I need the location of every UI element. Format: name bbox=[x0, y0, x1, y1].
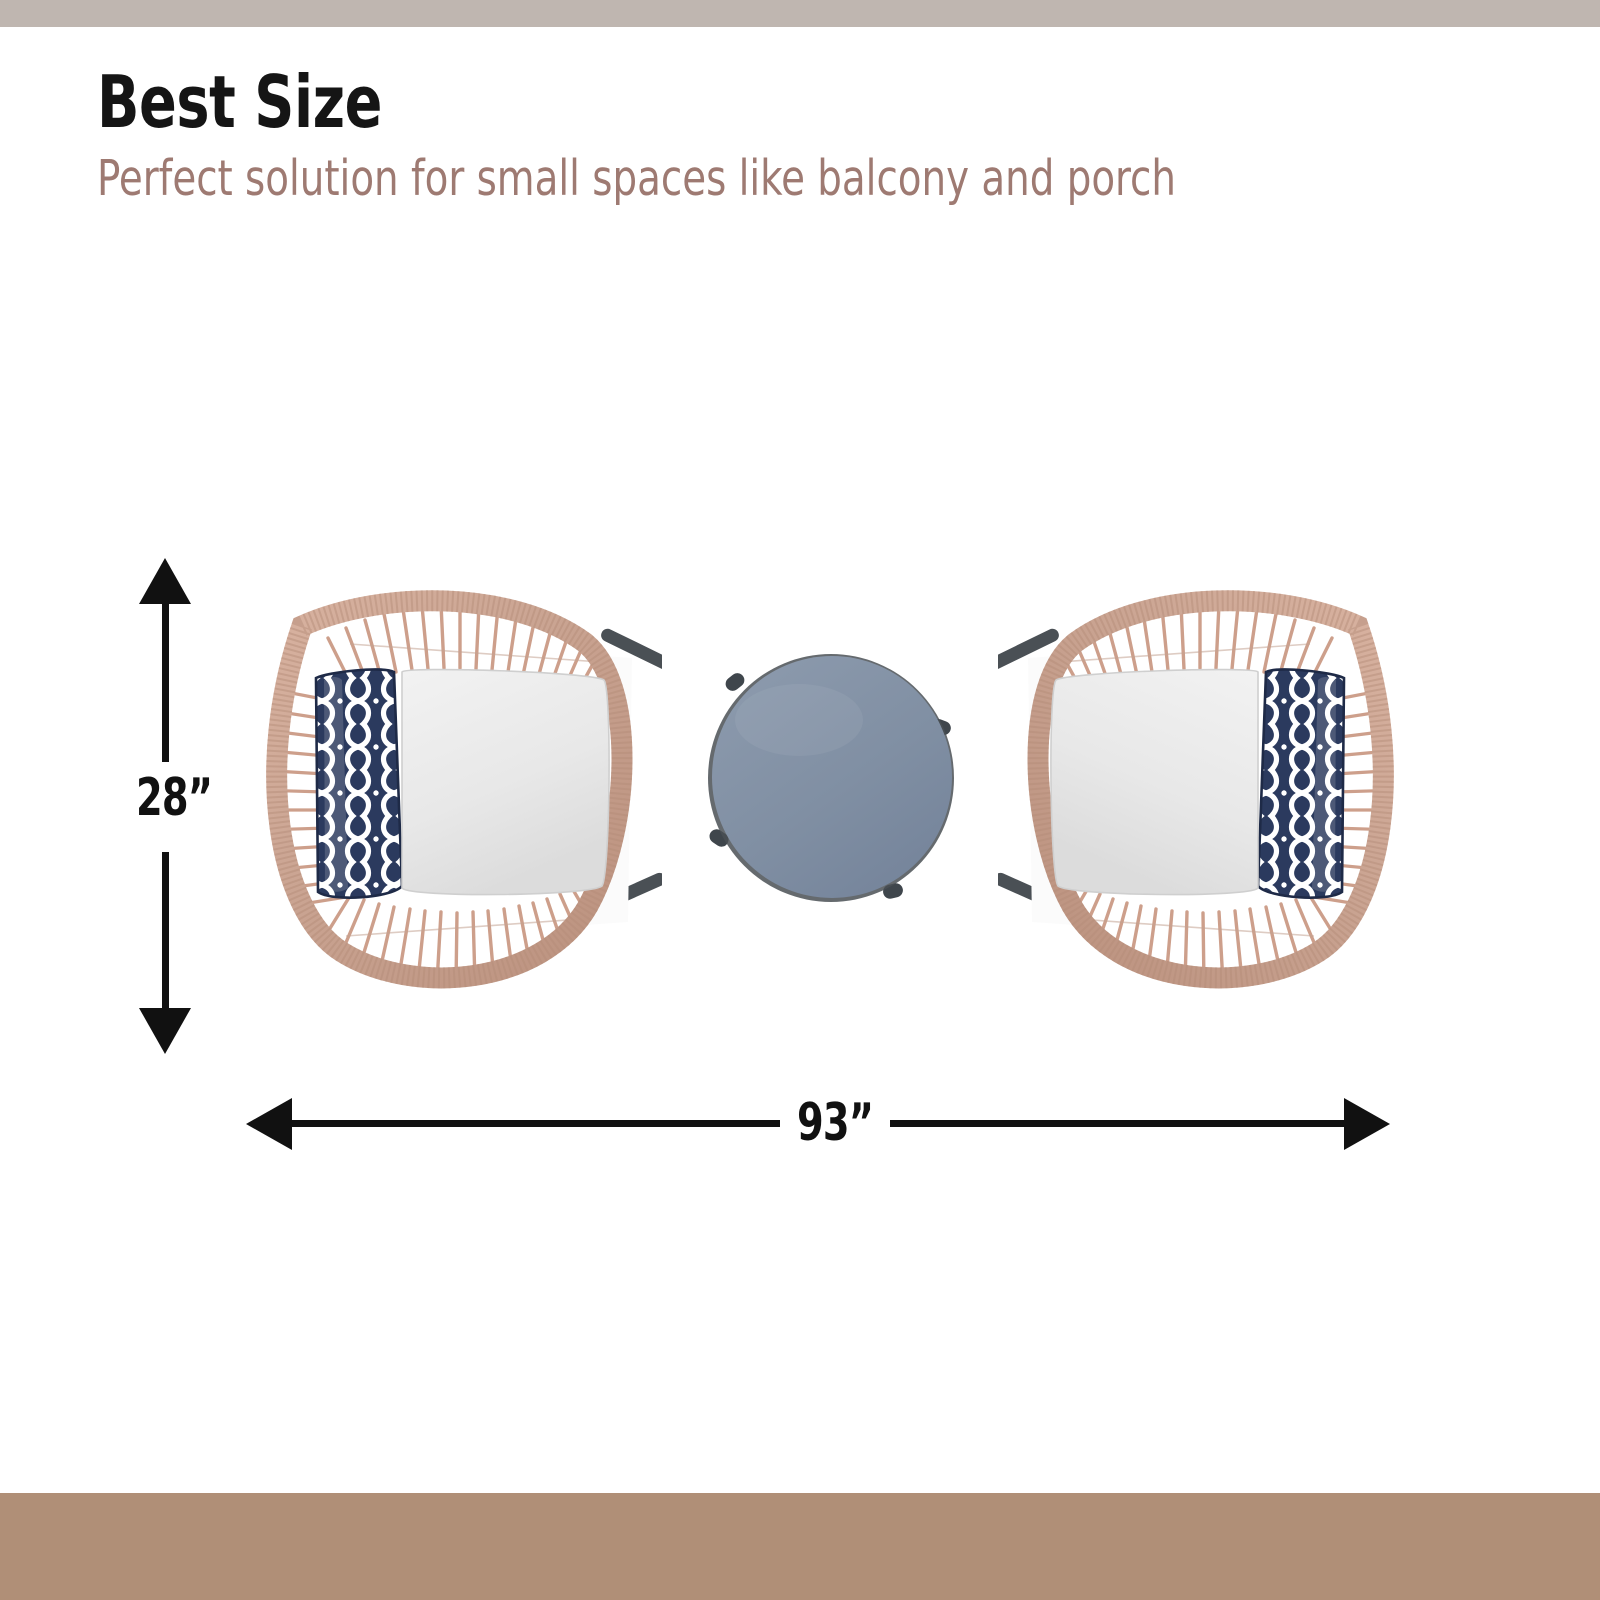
width-dimension-label: 93” bbox=[797, 1093, 873, 1153]
height-line-upper bbox=[162, 600, 169, 762]
arrow-right-head bbox=[1344, 1098, 1390, 1150]
height-line-lower bbox=[162, 852, 169, 1010]
arrow-left-head bbox=[246, 1098, 292, 1150]
width-line-right bbox=[890, 1120, 1346, 1127]
arrow-up-head bbox=[139, 558, 191, 604]
furniture-stage bbox=[0, 0, 1600, 1600]
chair-right-seat-cushion bbox=[1051, 670, 1258, 895]
chair-left-accent-pillow bbox=[316, 670, 402, 898]
chair-left-seat-cushion bbox=[402, 670, 609, 895]
height-dimension-label: 28” bbox=[136, 768, 212, 828]
chair-left bbox=[232, 586, 662, 1006]
width-line-left bbox=[290, 1120, 780, 1127]
arrow-down-head bbox=[139, 1008, 191, 1054]
side-table bbox=[703, 648, 959, 906]
chair-right-accent-pillow bbox=[1258, 670, 1344, 898]
chair-right bbox=[998, 586, 1428, 1006]
